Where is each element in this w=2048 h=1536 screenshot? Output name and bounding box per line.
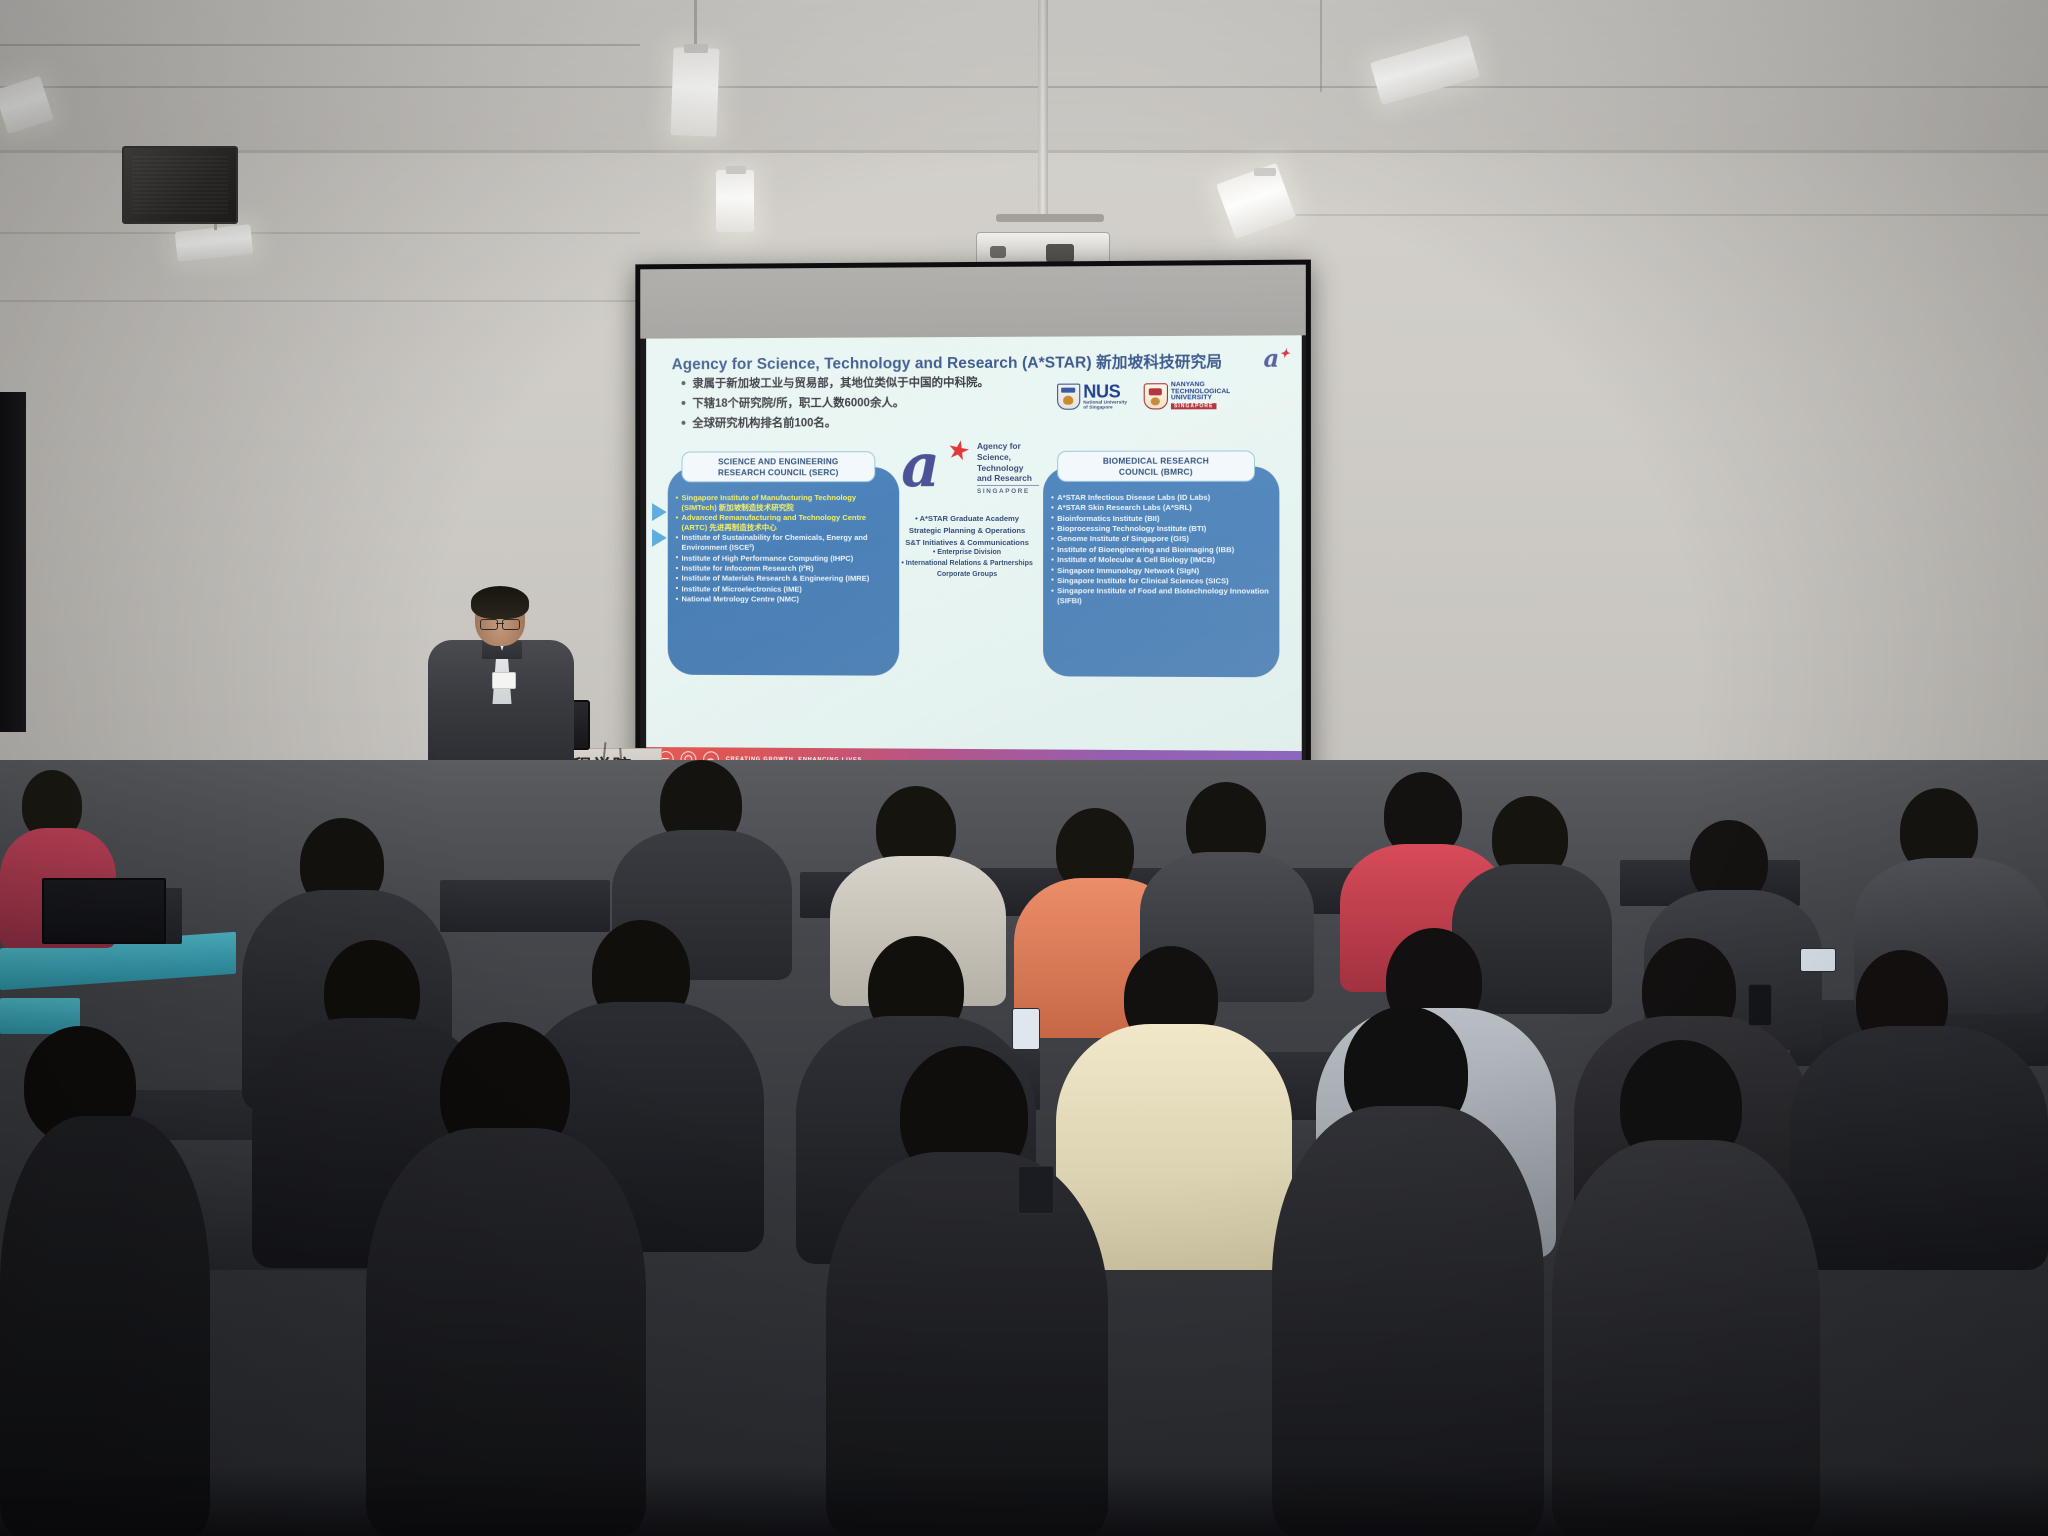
astar-main-logo: a ★ Agency for Science, Technology and R… <box>901 433 1051 511</box>
projector-mount <box>996 214 1104 222</box>
bullet-text: 下辖18个研究院/所，职工人数6000余人。 <box>692 394 904 411</box>
nus-subtitle-2: of Singapore <box>1083 405 1127 410</box>
presenter-hair <box>471 586 529 619</box>
bmrc-list-item: Bioinformatics Institute (BII) <box>1051 514 1271 524</box>
serc-arrow-icon <box>652 503 667 521</box>
serc-institute-list: Singapore Institute of Manufacturing Tec… <box>676 493 892 605</box>
nus-shield-icon <box>1057 383 1080 409</box>
serc-list-item: Institute of Sustainability for Chemical… <box>676 533 892 553</box>
ceiling-seam <box>1320 0 1322 92</box>
ceiling-seam <box>0 86 2048 88</box>
audience-area <box>0 760 2048 1536</box>
raised-phone <box>1800 948 1836 972</box>
ntu-crest-icon <box>1144 383 1168 409</box>
bmrc-heading-line-2: COUNCIL (BMRC) <box>1060 466 1252 477</box>
bmrc-list-item: A*STAR Skin Research Labs (A*SRL) <box>1051 503 1271 513</box>
slide-bullet: 全球研究机构排名前100名。 <box>682 413 1140 430</box>
serc-list-item: Institute of High Performance Computing … <box>676 553 892 563</box>
presenter-glasses-icon <box>480 619 520 628</box>
bullet-text: 全球研究机构排名前100名。 <box>692 414 836 430</box>
serc-list-item: National Metrology Centre (NMC) <box>676 595 892 605</box>
lamp-cap <box>684 44 708 53</box>
ceiling-lamp <box>716 170 754 232</box>
wall-speaker <box>122 146 238 224</box>
wall-seam <box>0 300 636 302</box>
bullet-text: 隶属于新加坡工业与贸易部，其地位类似于中国的中科院。 <box>692 374 989 391</box>
bmrc-list-item: Singapore Immunology Network (SIgN) <box>1051 566 1271 576</box>
side-door <box>0 392 26 732</box>
bullet-dot-icon <box>682 401 686 405</box>
bmrc-heading-line-1: BIOMEDICAL RESEARCH <box>1060 455 1252 466</box>
wall-seam <box>1296 214 2048 216</box>
lecture-hall-photo: Agency for Science, Technology and Resea… <box>0 0 2048 1536</box>
ceiling-seam <box>0 44 640 46</box>
ntu-logo: NANYANG TECHNOLOGICAL UNIVERSITY SINGAPO… <box>1144 382 1231 410</box>
audience-body <box>1790 1026 2048 1270</box>
floor-shadow <box>0 1466 2048 1536</box>
serc-list-item: Advanced Remanufacturing and Technology … <box>676 513 892 533</box>
slide-title: Agency for Science, Technology and Resea… <box>672 350 1272 375</box>
astar-word-line-3: and Research <box>977 473 1051 484</box>
mid-col-line-3: S&T Initiatives & Communications <box>893 537 1041 549</box>
mid-col-line-2: Strategic Planning & Operations <box>893 525 1041 537</box>
bmrc-list-item: Bioprocessing Technology Institute (BTI) <box>1051 524 1271 534</box>
ntu-line-3: UNIVERSITY <box>1171 396 1231 403</box>
raised-phone <box>1012 1008 1040 1050</box>
astar-star-icon: ★ <box>944 433 973 468</box>
serc-list-item: Institute of Materials Research & Engine… <box>676 574 892 584</box>
screen-blank-area <box>640 265 1306 339</box>
bmrc-list-item: Institute of Bioengineering and Bioimagi… <box>1051 545 1271 555</box>
astar-word-line-2: Science, Technology <box>977 452 1051 474</box>
mid-col-line-5: • International Relations & Partnerships… <box>893 559 1041 581</box>
bmrc-list-item: Institute of Molecular & Cell Biology (I… <box>1051 555 1271 565</box>
lamp-cap <box>726 166 746 174</box>
serc-list-item: Institute for Infocomm Research (I²R) <box>676 564 892 574</box>
astar-country-label: SINGAPORE <box>977 485 1039 495</box>
bmrc-institute-list: A*STAR Infectious Disease Labs (ID Labs)… <box>1051 493 1271 607</box>
projection-screen: Agency for Science, Technology and Resea… <box>635 260 1311 785</box>
projector-vent <box>990 246 1006 258</box>
mid-col-line-4: • Enterprise Division <box>893 548 1041 559</box>
desk <box>440 880 610 932</box>
mid-col-line-1: • A*STAR Graduate Academy <box>893 513 1041 525</box>
ceiling <box>0 0 2048 150</box>
bullet-dot-icon <box>682 381 686 385</box>
serc-heading-line-1: SCIENCE AND ENGINEERING <box>684 456 872 467</box>
astar-corner-logo: a✦ <box>1264 343 1290 372</box>
bmrc-list-item: A*STAR Infectious Disease Labs (ID Labs) <box>1051 493 1271 503</box>
projector-pole <box>1038 0 1048 222</box>
bmrc-list-item: Singapore Institute for Clinical Science… <box>1051 576 1271 586</box>
bmrc-panel: BIOMEDICAL RESEARCH COUNCIL (BMRC) A*STA… <box>1043 467 1279 678</box>
astar-word-line-1: Agency for <box>977 441 1051 452</box>
ntu-line-4: SINGAPORE <box>1171 403 1217 409</box>
presentation-slide: Agency for Science, Technology and Resea… <box>646 335 1302 775</box>
nus-wordmark: NUS <box>1083 382 1127 400</box>
corporate-groups-column: • A*STAR Graduate Academy Strategic Plan… <box>893 513 1041 581</box>
bmrc-list-item: Genome Institute of Singapore (GIS) <box>1051 534 1271 544</box>
serc-list-item: Institute of Microelectronics (IME) <box>676 584 892 594</box>
wall-seam <box>0 232 640 234</box>
astar-a-glyph: a <box>901 439 940 493</box>
bullet-dot-icon <box>682 421 686 425</box>
bmrc-list-item: Singapore Institute of Food and Biotechn… <box>1051 586 1271 606</box>
serc-list-item: Singapore Institute of Manufacturing Tec… <box>676 493 892 513</box>
astar-wordmark: Agency for Science, Technology and Resea… <box>977 441 1051 484</box>
serc-panel: SCIENCE AND ENGINEERING RESEARCH COUNCIL… <box>668 467 899 676</box>
lamp-cap <box>1254 168 1276 176</box>
raised-phone <box>1018 1166 1054 1214</box>
serc-arrow-icon <box>652 529 667 547</box>
nus-logo: NUS National University of Singapore <box>1057 382 1127 410</box>
raised-phone <box>1748 984 1772 1026</box>
bmrc-panel-heading: BIOMEDICAL RESEARCH COUNCIL (BMRC) <box>1057 450 1255 482</box>
laptop <box>42 878 166 944</box>
presenter-badge <box>492 672 516 689</box>
serc-heading-line-2: RESEARCH COUNCIL (SERC) <box>684 467 872 478</box>
serc-panel-heading: SCIENCE AND ENGINEERING RESEARCH COUNCIL… <box>682 451 876 482</box>
astar-corner-star-icon: ✦ <box>1279 346 1289 360</box>
astar-corner-glyph: a <box>1264 343 1280 372</box>
projector-lens <box>1046 244 1074 262</box>
ceiling-lamp <box>670 47 719 137</box>
wall-seam <box>0 150 2048 153</box>
